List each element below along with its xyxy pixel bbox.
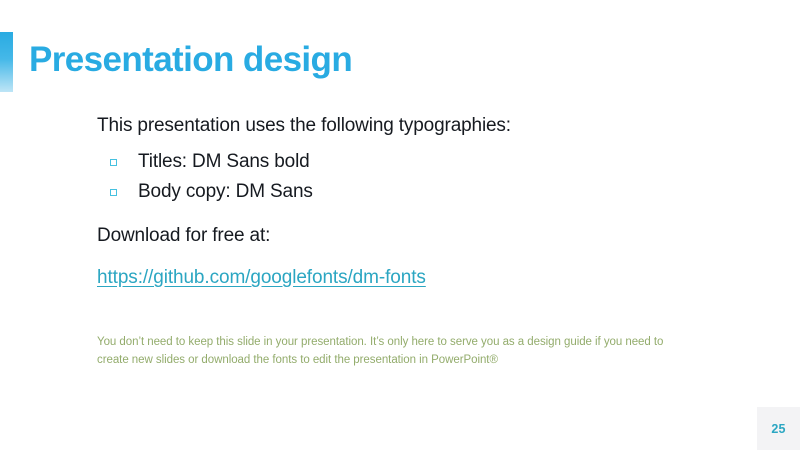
body-content: This presentation uses the following typ… [97, 112, 697, 292]
list-item-label: Titles: DM Sans bold [138, 151, 310, 173]
square-bullet-icon [110, 189, 117, 196]
download-paragraph: Download for free at: [97, 222, 697, 250]
typography-list: Titles: DM Sans bold Body copy: DM Sans [97, 148, 697, 206]
page-number: 25 [771, 422, 785, 436]
download-link[interactable]: https://github.com/googlefonts/dm-fonts [97, 264, 426, 292]
lead-paragraph: This presentation uses the following typ… [97, 112, 697, 140]
page-title: Presentation design [29, 36, 352, 84]
square-bullet-icon [110, 159, 117, 166]
list-item: Titles: DM Sans bold [97, 148, 697, 176]
list-item-label: Body copy: DM Sans [138, 181, 313, 203]
designer-note: You don’t need to keep this slide in you… [97, 334, 677, 369]
page-number-block: 25 [757, 407, 800, 450]
slide-canvas: Presentation design This presentation us… [0, 0, 800, 450]
list-item: Body copy: DM Sans [97, 178, 697, 206]
title-accent-bar [0, 32, 13, 92]
